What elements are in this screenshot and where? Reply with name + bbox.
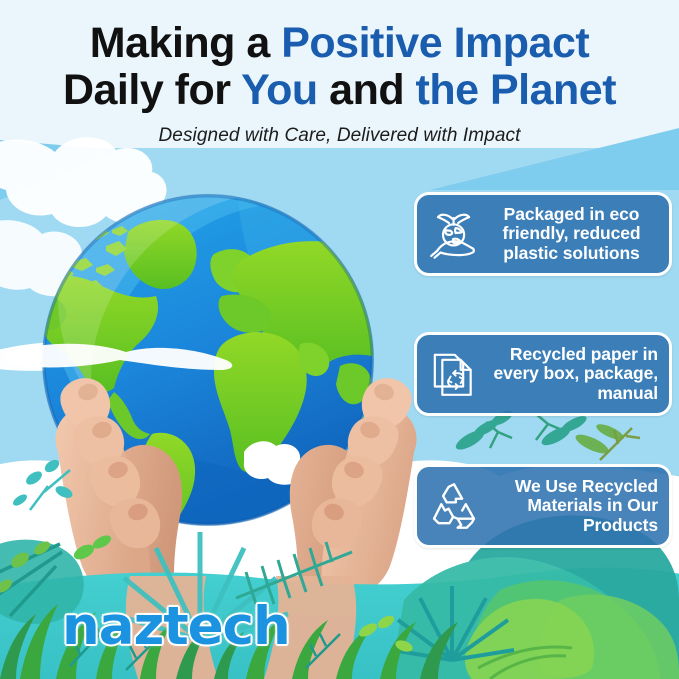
naztech-logo: naztech bbox=[62, 596, 290, 657]
headline-line-1: Making a Positive Impact bbox=[0, 22, 679, 65]
headline-block: Making a Positive Impact Daily for You a… bbox=[0, 0, 679, 150]
recycling-symbol-icon bbox=[423, 475, 485, 537]
subtitle: Designed with Care, Delivered with Impac… bbox=[0, 125, 679, 147]
recycled-paper-documents-icon bbox=[423, 343, 485, 405]
benefit-card-packaging-text: Packaged in eco friendly, reduced plasti… bbox=[485, 205, 669, 264]
headline-line-1-accent: Positive Impact bbox=[281, 19, 589, 67]
headline-line-1-plain: Making a bbox=[90, 19, 281, 67]
benefit-card-packaging[interactable]: Packaged in eco friendly, reduced plasti… bbox=[414, 192, 672, 276]
poster-canvas: Making a Positive Impact Daily for You a… bbox=[0, 0, 679, 679]
benefit-card-recycled-materials[interactable]: We Use Recycled Materials in Our Product… bbox=[414, 464, 672, 548]
benefit-card-recycled-paper[interactable]: Recycled paper in every box, package, ma… bbox=[414, 332, 672, 416]
headline-line-2-plain-b: and bbox=[318, 66, 416, 114]
hand-holding-globe-sprout-icon bbox=[423, 203, 485, 265]
headline-line-2-plain-a: Daily for bbox=[63, 66, 241, 114]
benefit-card-recycled-paper-text: Recycled paper in every box, package, ma… bbox=[485, 345, 669, 404]
benefit-card-recycled-materials-text: We Use Recycled Materials in Our Product… bbox=[485, 477, 669, 536]
headline-line-2: Daily for You and the Planet bbox=[0, 69, 679, 112]
headline-line-2-accent-b: the Planet bbox=[416, 66, 617, 114]
headline-line-2-accent-a: You bbox=[241, 66, 318, 114]
